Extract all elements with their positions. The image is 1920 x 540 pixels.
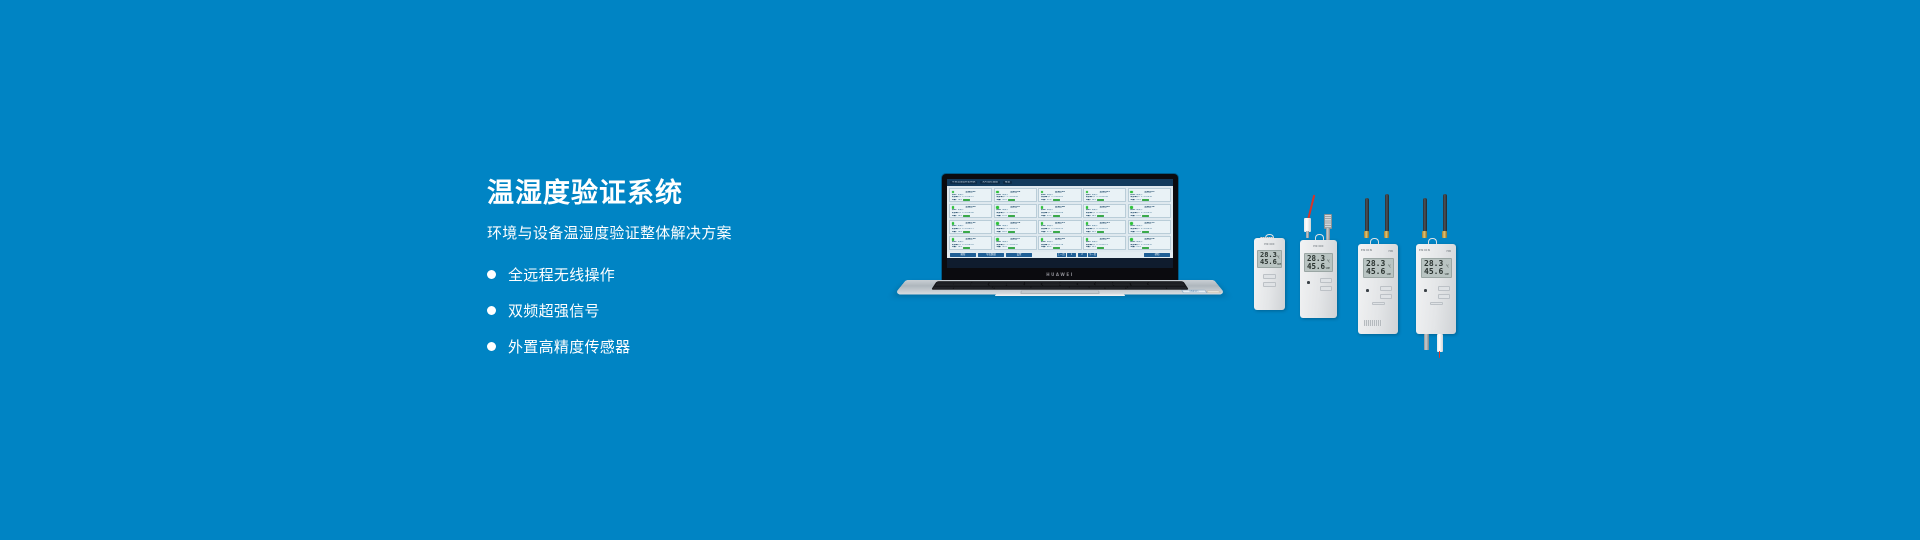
card-field-label: T1: (1130, 201, 1134, 202)
card-field-value: 25.7 ℃ (1046, 249, 1054, 250)
page-1-button[interactable]: 1 (1067, 253, 1076, 257)
logger-wireless-right: ENION H8 28.3 ℃ 45.6 %RH (1416, 198, 1456, 334)
card-status-led-icon (1130, 238, 1132, 240)
card-title: 监测点17 (996, 238, 1034, 240)
app-bottombar: 刷新 导出数据 设置 上一页 1 2 下一页 帮助 (947, 252, 1173, 258)
card-field-row: T1:25.7 ℃ (1041, 249, 1079, 250)
battery-indicator-icon (1008, 215, 1015, 217)
card-field-row: T1:24.8 ℃ (1130, 233, 1168, 234)
feature-list: 全远程无线操作 双频超强信号 外置高精度传感器 (487, 264, 907, 357)
card-title: 监测点05 (1130, 191, 1168, 193)
card-field-value: 25.2 ℃ (1090, 233, 1098, 234)
antenna-left-icon (1423, 198, 1427, 232)
card-field-label: T1: (996, 249, 1000, 250)
alarm-indicator-icon (1054, 249, 1058, 250)
card-field-label: T1: (1086, 249, 1090, 250)
battery-indicator-icon (1097, 199, 1104, 201)
card-field-row: T1:25.1 ℃ (1041, 201, 1079, 202)
card-field-row: T1:24.9 ℃ (1086, 201, 1124, 202)
card-status-led-icon (996, 206, 998, 208)
lcd-humidity-unit: %RH (1387, 274, 1391, 276)
bullet-dot-icon (487, 306, 496, 315)
laptop-base: VERIFY (894, 280, 1226, 295)
key-arrow-updown[interactable] (1146, 288, 1167, 289)
device-lcd: 28.3 ℃ 45.6 %RH (1421, 258, 1452, 278)
device-brand: ENION (1361, 249, 1372, 252)
card-field-value: 25.5 ℃ (1001, 233, 1009, 234)
card-status-led-icon (1086, 206, 1088, 208)
card-status-led-icon (1130, 206, 1132, 208)
sensor-cable-red (1307, 195, 1315, 221)
card-status-led-icon (952, 191, 954, 193)
card-field-label: T1: (952, 249, 956, 250)
battery-indicator-icon (963, 199, 970, 201)
card-field-value: 24.6 ℃ (1135, 217, 1143, 218)
device-body: ENION 28.3 ℃ 45.6 %RH (1300, 240, 1337, 318)
keyboard-row (932, 288, 1187, 289)
card-field-label: T1: (1130, 217, 1134, 218)
card-field-value: 25.3 ℃ (1001, 249, 1009, 250)
card-field-label: T1: (1041, 233, 1045, 234)
lcd-humidity-value: 45.6 (1366, 268, 1385, 276)
card-field-label: T1: (996, 217, 1000, 218)
card-field-row: T1:24.6 ℃ (1130, 217, 1168, 218)
battery-indicator-icon (1053, 215, 1060, 217)
card-title: 监测点10 (1130, 206, 1168, 208)
card-field-row: T1:25.3 ℃ (996, 249, 1034, 250)
feature-label: 双频超强信号 (508, 300, 600, 321)
device-model: H8 (1388, 249, 1393, 253)
sensor-probe-cap (1324, 214, 1332, 229)
probe-connector-white (1437, 334, 1443, 352)
card-field-label: T1: (996, 233, 1000, 234)
sensor-cable-red (1439, 351, 1440, 358)
key-alt-right[interactable] (1105, 288, 1125, 289)
card-field-value: 24.7 ℃ (1046, 217, 1054, 218)
card-title: 监测点09 (1086, 206, 1124, 208)
card-title: 监测点03 (1041, 191, 1079, 193)
card-title: 监测点19 (1086, 238, 1124, 240)
card-status-led-icon (952, 206, 954, 208)
battery-indicator-icon (963, 231, 970, 233)
device-button-down[interactable] (1438, 294, 1450, 299)
lcd-humidity-value: 45.6 (1424, 268, 1443, 276)
device-button-up[interactable] (1380, 286, 1392, 291)
card-title: 监测点16 (952, 238, 990, 240)
export-button[interactable]: 导出数据 (978, 253, 1004, 257)
card-field-label: T1: (1041, 201, 1045, 202)
card-field-row: T1:24.2 ℃ (1086, 217, 1124, 218)
card-status-led-icon (1041, 222, 1043, 224)
logger-wireless-left: ENION H8 28.3 ℃ 45.6 %RH (1358, 198, 1398, 334)
card-field-row: T1:25.5 ℃ (996, 233, 1034, 234)
laptop-hinge (995, 295, 1125, 296)
card-field-row: T1:24.1 ℃ (952, 249, 990, 250)
card-field-row: T1:25.2 ℃ (1086, 233, 1124, 234)
device-body: ENION 28.3 ℃ 45.6 %RH (1254, 238, 1285, 310)
card-field-row: T1:24.4 ℃ (1041, 233, 1079, 234)
card-title: 监测点08 (1041, 206, 1079, 208)
antenna-left-icon (1365, 198, 1369, 232)
tab-monitoring[interactable]: 环境温湿度验证系统 (950, 181, 977, 185)
card-field-value: 24.4 ℃ (1046, 233, 1054, 234)
card-field-row: T1:24.9 ℃ (1130, 249, 1168, 250)
card-title: 监测点20 (1130, 238, 1168, 240)
battery-indicator-icon (1097, 231, 1104, 233)
monitor-card[interactable]: 监测点12状态:采集中设备编号:TC-2024-12电量:89%T1:25.5 … (994, 220, 1037, 234)
battery-indicator-icon (1142, 215, 1149, 217)
card-title: 监测点12 (996, 222, 1034, 224)
card-field-row: T1:24.5 ℃ (996, 201, 1034, 202)
antenna-right-icon (1385, 194, 1389, 232)
alarm-indicator-icon (1010, 233, 1014, 234)
hero-copy-block: 温湿度验证系统 环境与设备温湿度验证整体解决方案 全远程无线操作 双频超强信号 … (487, 178, 907, 357)
hero-banner: 温湿度验证系统 环境与设备温湿度验证整体解决方案 全远程无线操作 双频超强信号 … (0, 0, 1920, 540)
lcd-humidity-value: 45.6 (1307, 263, 1325, 271)
card-title: 监测点13 (1041, 222, 1079, 224)
lcd-humidity-unit: %RH (1445, 274, 1449, 276)
card-field-label: T1: (1086, 233, 1090, 234)
battery-indicator-icon (1097, 215, 1104, 217)
bullet-dot-icon (487, 270, 496, 279)
key-arrow-left[interactable] (1126, 288, 1146, 289)
card-status-led-icon (952, 222, 954, 224)
device-body: ENION H8 28.3 ℃ 45.6 %RH (1416, 244, 1456, 334)
status-led-icon (1424, 289, 1427, 292)
probe-stem-left (1424, 334, 1429, 350)
card-field-value: 24.9 ℃ (1135, 249, 1143, 250)
card-status-led-icon (1086, 222, 1088, 224)
page-prev-button[interactable]: 上一页 (1057, 253, 1066, 257)
list-item: 全远程无线操作 (487, 264, 907, 285)
device-button-down[interactable] (1263, 282, 1276, 287)
card-field-label: T1: (1041, 217, 1045, 218)
monitor-card[interactable]: 监测点18状态:采集中设备编号:TC-2024-18电量:86%T1:25.7 … (1038, 236, 1081, 250)
card-status-led-icon (1086, 191, 1088, 193)
battery-indicator-icon (963, 215, 970, 217)
device-model: H8 (1446, 249, 1451, 253)
card-field-value: 24.8 ℃ (1135, 233, 1143, 234)
laptop-product-image: 环境温湿度验证系统 实时监控数据 报警 监测点01状态:采集中设备编号:TC-2… (896, 174, 1224, 304)
logger-compact: ENION 28.3 ℃ 45.6 %RH (1254, 238, 1285, 310)
card-title: 监测点18 (1041, 238, 1079, 240)
lcd-humidity-row: 45.6 %RH (1307, 263, 1330, 271)
card-status-led-icon (1086, 238, 1088, 240)
list-item: 外置高精度传感器 (487, 336, 907, 357)
card-title: 监测点06 (952, 206, 990, 208)
card-field-label: T1: (952, 233, 956, 234)
tab-realtime-data[interactable]: 实时监控数据 (980, 181, 1000, 185)
status-led-icon (1307, 281, 1310, 284)
monitor-card[interactable]: 监测点10状态:采集中设备编号:TC-2024-10电量:91%T1:24.6 … (1128, 204, 1171, 218)
device-button-mode[interactable] (1430, 302, 1443, 305)
monitor-card[interactable]: 监测点19状态:采集中设备编号:TC-2024-19电量:95%T1:24.5 … (1083, 236, 1126, 250)
laptop-sticker: VERIFY (1181, 290, 1208, 293)
monitor-card[interactable]: 监测点09状态:采集中设备编号:TC-2024-09电量:96%T1:24.2 … (1083, 204, 1126, 218)
alarm-indicator-icon (1010, 218, 1014, 219)
lcd-humidity-row: 45.6 %RH (1260, 259, 1279, 266)
card-field-value: 24.5 ℃ (1001, 201, 1009, 202)
device-brand: ENION (1300, 245, 1337, 248)
card-field-value: 24.1 ℃ (956, 249, 964, 250)
card-field-label: T1: (1086, 217, 1090, 218)
card-field-label: T1: (952, 201, 956, 202)
probe-connector-white (1304, 218, 1311, 232)
status-led-icon (1366, 289, 1369, 292)
card-status-led-icon (996, 222, 998, 224)
battery-indicator-icon (963, 247, 970, 249)
card-status-led-icon (952, 238, 954, 240)
battery-indicator-icon (1142, 199, 1149, 201)
tab-alarms[interactable]: 报警 (1003, 181, 1012, 185)
probe-stem (1306, 231, 1310, 238)
key-ctrl[interactable] (932, 288, 953, 289)
feature-label: 外置高精度传感器 (508, 336, 630, 357)
monitor-card[interactable]: 监测点03状态:采集中设备编号:TC-2024-03电量:92%T1:25.1 … (1038, 188, 1081, 202)
monitor-card[interactable]: 监测点16状态:采集中设备编号:TC-2024-16电量:98%T1:24.1 … (949, 236, 992, 250)
laptop-keyboard[interactable] (931, 281, 1189, 289)
monitor-card[interactable]: 监测点08状态:采集中设备编号:TC-2024-08电量:93%T1:24.7 … (1038, 204, 1081, 218)
card-field-value: 24.3 ℃ (1135, 201, 1143, 202)
card-field-value: 24.2 ℃ (1090, 217, 1098, 218)
monitor-card[interactable]: 监测点06状态:采集中设备编号:TC-2024-06电量:88%T1:25.4 … (949, 204, 992, 218)
card-field-row: T1:25.4 ℃ (952, 217, 990, 218)
page-next-button[interactable]: 下一页 (1088, 253, 1097, 257)
page-title: 温湿度验证系统 (487, 178, 907, 210)
laptop-lid: 环境温湿度验证系统 实时监控数据 报警 监测点01状态:采集中设备编号:TC-2… (942, 174, 1178, 282)
laptop-trackpad[interactable] (1020, 290, 1099, 293)
pagination: 上一页 1 2 下一页 (1057, 253, 1098, 257)
card-field-value: 25.8 ℃ (1001, 217, 1009, 218)
card-field-row: T1:25.8 ℃ (996, 217, 1034, 218)
monitor-card[interactable]: 监测点11状态:采集中设备编号:TC-2024-11电量:94%T1:25.0 … (949, 220, 992, 234)
lcd-humidity-row: 45.6 %RH (1366, 268, 1391, 276)
monitor-card[interactable]: 监测点02状态:采集中设备编号:TC-2024-02电量:95%T1:24.5 … (994, 188, 1037, 202)
laptop-sticker-secondary (1205, 290, 1221, 293)
monitor-card[interactable]: 监测点01状态:采集中设备编号:TC-2024-01电量:98%T1:24.8 … (949, 188, 992, 202)
card-field-value: 25.4 ℃ (956, 217, 964, 218)
device-lcd: 28.3 ℃ 45.6 %RH (1257, 250, 1282, 268)
battery-indicator-icon (1142, 231, 1149, 233)
alarm-indicator-icon (1054, 202, 1058, 203)
feature-label: 全远程无线操作 (508, 264, 615, 285)
monitor-card[interactable]: 监测点20状态:采集中设备编号:TC-2024-20电量:93%T1:24.9 … (1128, 236, 1171, 250)
device-lcd: 28.3 ℃ 45.6 %RH (1304, 253, 1333, 272)
page-2-button[interactable]: 2 (1078, 253, 1087, 257)
laptop-screen: 环境温湿度验证系统 实时监控数据 报警 监测点01状态:采集中设备编号:TC-2… (947, 179, 1173, 268)
card-field-row: T1:24.8 ℃ (952, 201, 990, 202)
card-title: 监测点07 (996, 206, 1034, 208)
card-field-row: T1:25.0 ℃ (952, 233, 990, 234)
card-field-label: T1: (996, 201, 1000, 202)
key-fn[interactable] (953, 288, 974, 289)
card-field-value: 24.8 ℃ (956, 201, 964, 202)
settings-button[interactable]: 设置 (1006, 253, 1032, 257)
key-alt[interactable] (974, 288, 994, 289)
app-topbar: 环境温湿度验证系统 实时监控数据 报警 (947, 179, 1173, 186)
refresh-button[interactable]: 刷新 (950, 253, 976, 257)
card-field-row: T1:24.5 ℃ (1086, 249, 1124, 250)
card-status-led-icon (1130, 191, 1132, 193)
bullet-dot-icon (487, 342, 496, 351)
card-field-value: 25.0 ℃ (956, 233, 964, 234)
card-title: 监测点15 (1130, 222, 1168, 224)
card-field-value: 24.9 ℃ (1090, 201, 1098, 202)
card-title: 监测点14 (1086, 222, 1124, 224)
card-title: 监测点02 (996, 191, 1034, 193)
key-space[interactable] (994, 288, 1104, 289)
monitor-card[interactable]: 监测点05状态:采集中设备编号:TC-2024-05电量:99%T1:24.3 … (1128, 188, 1171, 202)
battery-indicator-icon (1097, 247, 1104, 249)
device-button-up[interactable] (1438, 286, 1450, 291)
device-brand: ENION (1254, 243, 1285, 246)
battery-indicator-icon (1008, 247, 1015, 249)
device-button-mode[interactable] (1372, 302, 1385, 305)
card-title: 监测点04 (1086, 191, 1124, 193)
lcd-humidity-row: 45.6 %RH (1424, 268, 1449, 276)
battery-indicator-icon (1142, 247, 1149, 249)
card-status-led-icon (1041, 238, 1043, 240)
battery-indicator-icon (1053, 199, 1060, 201)
device-button-down[interactable] (1320, 286, 1332, 291)
card-field-label: T1: (952, 217, 956, 218)
monitor-card[interactable]: 监测点14状态:采集中设备编号:TC-2024-14电量:85%T1:25.2 … (1083, 220, 1126, 234)
device-button-up[interactable] (1320, 278, 1332, 283)
device-body: ENION H8 28.3 ℃ 45.6 %RH (1358, 244, 1398, 334)
card-field-label: T1: (1130, 249, 1134, 250)
antenna-right-icon (1443, 194, 1447, 232)
card-field-label: T1: (1130, 233, 1134, 234)
monitor-card[interactable]: 监测点13状态:采集中设备编号:TC-2024-13电量:97%T1:24.4 … (1038, 220, 1081, 234)
lcd-humidity-value: 45.6 (1260, 259, 1277, 266)
card-field-row: T1:24.3 ℃ (1130, 201, 1168, 202)
battery-indicator-icon (1008, 199, 1015, 201)
list-item: 双频超强信号 (487, 300, 907, 321)
card-field-value: 25.1 ℃ (1046, 201, 1054, 202)
monitor-card-grid: 监测点01状态:采集中设备编号:TC-2024-01电量:98%T1:24.8 … (947, 186, 1173, 252)
vent-grille (1364, 320, 1382, 326)
device-button-up[interactable] (1263, 274, 1276, 279)
lcd-humidity-unit: %RH (1326, 268, 1330, 270)
card-status-led-icon (1130, 222, 1132, 224)
device-brand: ENION (1419, 249, 1430, 252)
card-field-value: 24.5 ℃ (1090, 249, 1098, 250)
page-subtitle: 环境与设备温湿度验证整体解决方案 (487, 224, 907, 244)
help-button[interactable]: 帮助 (1144, 253, 1170, 257)
monitor-card[interactable]: 监测点15状态:采集中设备编号:TC-2024-15电量:92%T1:24.8 … (1128, 220, 1171, 234)
alarm-indicator-icon (1054, 233, 1058, 234)
card-title: 监测点01 (952, 191, 990, 193)
lcd-humidity-unit: %RH (1277, 264, 1281, 266)
device-button-down[interactable] (1380, 294, 1392, 299)
card-field-label: T1: (1086, 201, 1090, 202)
huawei-logo: HUAWEI (1046, 272, 1074, 277)
monitor-card[interactable]: 监测点17状态:采集中设备编号:TC-2024-17电量:90%T1:25.3 … (994, 236, 1037, 250)
card-field-label: T1: (1041, 249, 1045, 250)
card-title: 监测点11 (952, 222, 990, 224)
alarm-indicator-icon (1054, 218, 1058, 219)
card-status-led-icon (996, 238, 998, 240)
card-status-led-icon (996, 191, 998, 193)
monitor-card[interactable]: 监测点04状态:采集中设备编号:TC-2024-04电量:90%T1:24.9 … (1083, 188, 1126, 202)
logger-probe: ENION 28.3 ℃ 45.6 %RH (1300, 216, 1337, 318)
monitor-card[interactable]: 监测点07状态:采集中设备编号:TC-2024-07电量:87%T1:25.8 … (994, 204, 1037, 218)
card-field-row: T1:24.7 ℃ (1041, 217, 1079, 218)
device-lcd: 28.3 ℃ 45.6 %RH (1363, 258, 1394, 278)
logger-device-group: ENION 28.3 ℃ 45.6 %RH (1248, 190, 1498, 370)
